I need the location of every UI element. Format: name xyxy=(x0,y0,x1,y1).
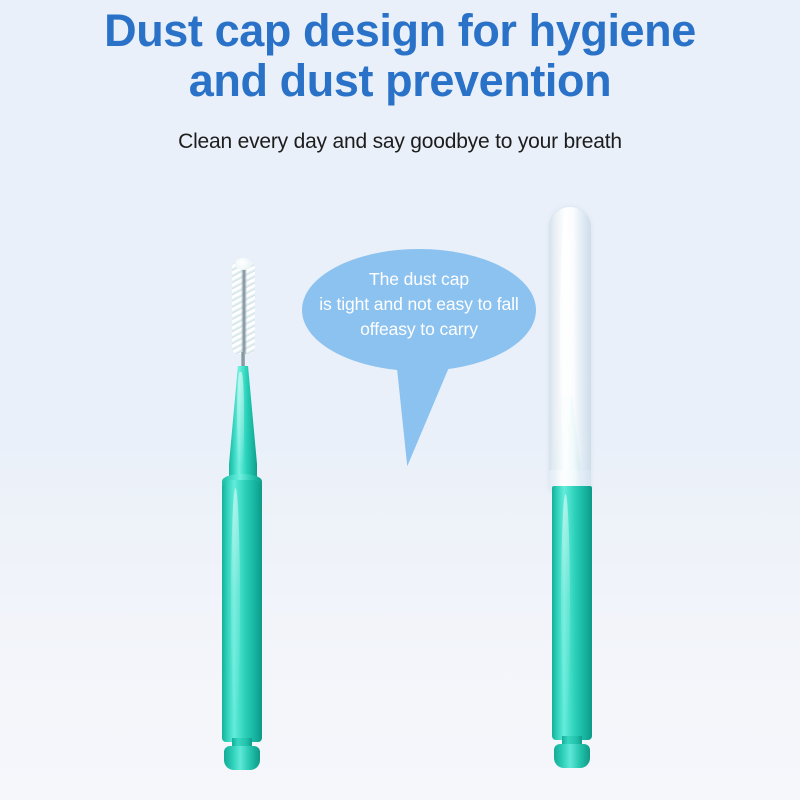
dust-cap-gloss xyxy=(560,216,571,464)
callout-bubble: The dust cap is tight and not easy to fa… xyxy=(300,247,540,442)
callout-line-1: The dust cap xyxy=(302,267,536,292)
brush-handle-highlight-right xyxy=(561,494,570,724)
product-poster: Dust cap design for hygiene and dust pre… xyxy=(0,0,800,800)
brush-end-knob-right xyxy=(554,744,590,768)
callout-line-2: is tight and not easy to fall xyxy=(302,292,536,317)
callout-bubble-text: The dust cap is tight and not easy to fa… xyxy=(302,267,536,342)
callout-line-3: offeasy to carry xyxy=(302,317,536,342)
brush-handle-right[interactable] xyxy=(552,486,592,740)
